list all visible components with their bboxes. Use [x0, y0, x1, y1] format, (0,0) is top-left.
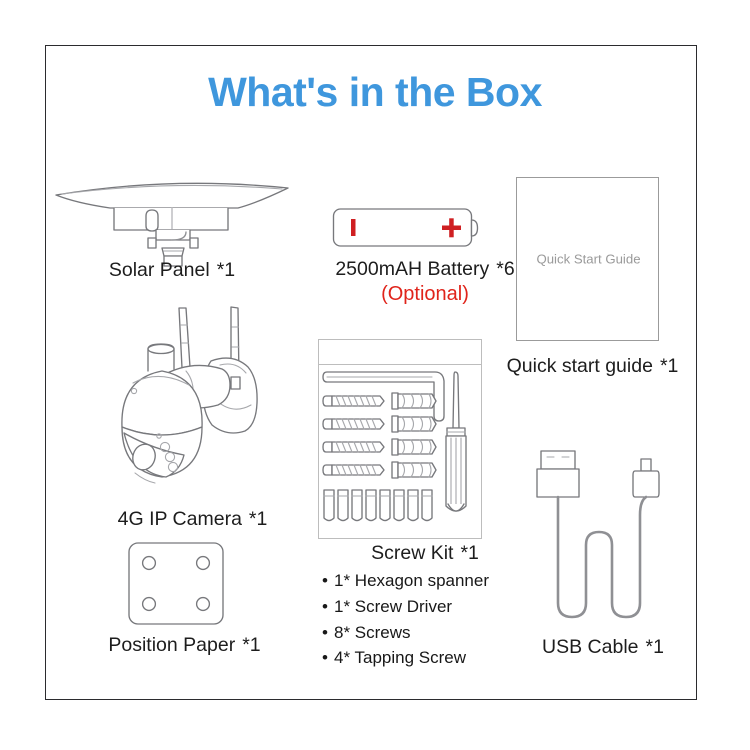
- position-paper-icon: [127, 541, 225, 626]
- whats-in-the-box-infographic: What's in the Box Solar Panel*1: [0, 0, 750, 750]
- screw-kit-lid-divider: [318, 364, 482, 365]
- wall-anchor-icon: [392, 439, 436, 455]
- list-item: •8* Screws: [322, 620, 537, 646]
- list-item: •1* Hexagon spanner: [322, 568, 537, 594]
- caption-position-paper: Position Paper*1: [82, 634, 287, 656]
- camera-antenna-left: [179, 308, 190, 368]
- short-screws-row: [324, 490, 432, 521]
- booklet-icon: Quick Start Guide: [516, 177, 659, 341]
- bullet-icon: •: [322, 594, 334, 620]
- label-solar-panel: Solar Panel: [109, 259, 210, 281]
- list-item: •4* Tapping Screw: [322, 645, 537, 671]
- label-battery: 2500mAH Battery: [335, 258, 489, 280]
- caption-battery: 2500mAH Battery*6: [300, 258, 550, 280]
- qty-position-paper: *1: [242, 634, 260, 656]
- label-quick-start-guide: Quick start guide: [507, 355, 653, 377]
- screwdriver-icon: [446, 372, 466, 511]
- long-screw-icon: [323, 442, 384, 452]
- screw-kit-icon: [318, 366, 482, 538]
- bullet-icon: •: [322, 568, 334, 594]
- caption-quick-start-guide: Quick start guide*1: [495, 355, 690, 377]
- caption-solar-panel: Solar Panel*1: [52, 259, 292, 281]
- bullet-icon: •: [322, 645, 334, 671]
- usb-cable-icon: [518, 445, 683, 630]
- list-item-label: 1* Hexagon spanner: [334, 571, 489, 590]
- long-screw-icon: [323, 396, 384, 406]
- qty-usb-cable: *1: [646, 636, 664, 658]
- label-camera: 4G IP Camera: [118, 508, 242, 530]
- bullet-icon: •: [322, 620, 334, 646]
- qty-battery: *6: [496, 258, 514, 280]
- micro-usb-connector: [633, 459, 659, 497]
- battery-minus-terminal: [351, 219, 356, 236]
- wall-anchor-icon: [392, 393, 436, 409]
- ptz-camera-icon: [100, 305, 280, 501]
- battery-optional-note: (Optional): [300, 283, 550, 306]
- list-item: •1* Screw Driver: [322, 594, 537, 620]
- wall-anchor-icon: [392, 416, 436, 432]
- label-position-paper: Position Paper: [108, 634, 235, 656]
- qty-solar-panel: *1: [217, 259, 235, 281]
- usb-a-connector: [537, 451, 579, 497]
- qty-screw-kit: *1: [460, 542, 478, 564]
- booklet-cover-text: Quick Start Guide: [517, 252, 660, 267]
- long-screw-icon: [323, 419, 384, 429]
- label-usb-cable: USB Cable: [542, 636, 638, 658]
- label-screw-kit: Screw Kit: [371, 542, 453, 564]
- list-item-label: 4* Tapping Screw: [334, 648, 466, 667]
- solar-panel-icon: [52, 168, 292, 253]
- qty-camera: *1: [249, 508, 267, 530]
- list-item-label: 1* Screw Driver: [334, 597, 452, 616]
- long-screw-icon: [323, 465, 384, 475]
- page-title: What's in the Box: [0, 72, 750, 113]
- caption-camera: 4G IP Camera*1: [85, 508, 300, 530]
- caption-screw-kit: Screw Kit*1: [320, 542, 530, 564]
- wall-anchor-icon: [392, 462, 436, 478]
- caption-usb-cable: USB Cable*1: [508, 636, 698, 658]
- list-item-label: 8* Screws: [334, 623, 411, 642]
- qty-quick-start-guide: *1: [660, 355, 678, 377]
- screw-kit-contents-list: •1* Hexagon spanner •1* Screw Driver •8*…: [322, 568, 537, 671]
- battery-icon: [332, 207, 482, 249]
